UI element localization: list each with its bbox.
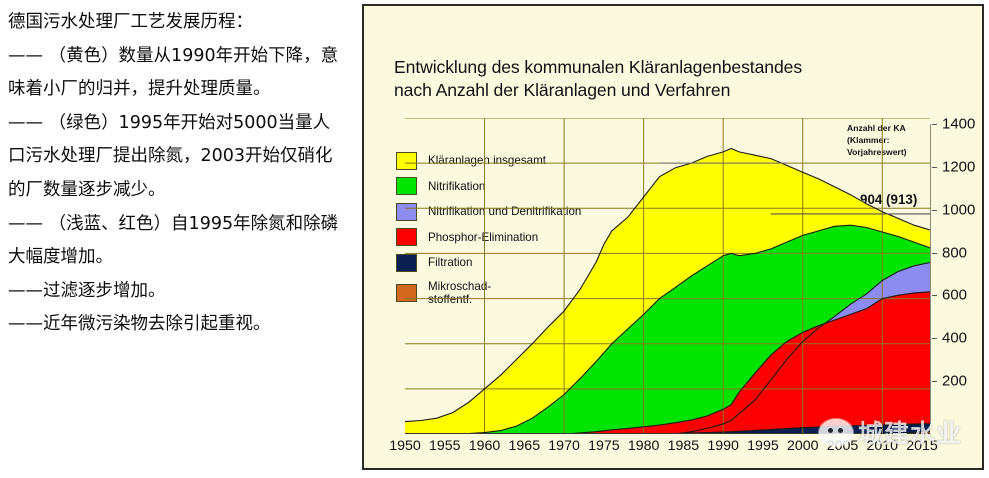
notes-text: 德国污水处理厂工艺发展历程： —— （黄色）数量从1990年开始下降，意味着小厂… bbox=[8, 6, 346, 342]
x-tick-label: 2005 bbox=[827, 438, 859, 454]
y-tick-label: 1000 bbox=[942, 201, 975, 218]
x-tick-label: 2010 bbox=[866, 438, 898, 454]
y-tick bbox=[932, 124, 937, 125]
y-axis-line bbox=[930, 124, 931, 424]
notes-panel: 德国污水处理厂工艺发展历程： —— （黄色）数量从1990年开始下降，意味着小厂… bbox=[0, 0, 352, 478]
y-tick-label: 1400 bbox=[942, 116, 975, 133]
y-axis: 200400600800100012001400 bbox=[930, 118, 984, 438]
x-tick-label: 1975 bbox=[588, 438, 620, 454]
chart-panel: Entwicklung des kommunalen Kläranlagenbe… bbox=[362, 4, 984, 470]
x-tick-label: 1950 bbox=[389, 438, 421, 454]
x-tick-label: 1990 bbox=[707, 438, 739, 454]
y-tick bbox=[932, 381, 937, 382]
x-tick-label: 2015 bbox=[906, 438, 938, 454]
chart-title: Entwicklung des kommunalen Kläranlagenbe… bbox=[394, 56, 802, 102]
y-tick-label: 200 bbox=[942, 373, 967, 390]
x-tick-label: 1985 bbox=[668, 438, 700, 454]
y-tick-label: 800 bbox=[942, 244, 967, 261]
x-tick-label: 1970 bbox=[548, 438, 580, 454]
y-tick bbox=[932, 210, 937, 211]
plot-area bbox=[405, 118, 930, 434]
x-tick-label: 1995 bbox=[747, 438, 779, 454]
area-chart-svg bbox=[405, 118, 930, 434]
y-tick bbox=[932, 338, 937, 339]
y-tick-label: 1200 bbox=[942, 158, 975, 175]
x-axis: 1950195519601965197019751980198519901995… bbox=[394, 438, 974, 464]
x-tick-label: 1980 bbox=[628, 438, 660, 454]
y-tick-label: 400 bbox=[942, 330, 967, 347]
y-tick bbox=[932, 295, 937, 296]
y-tick-label: 600 bbox=[942, 287, 967, 304]
x-tick-label: 2000 bbox=[787, 438, 819, 454]
y-tick bbox=[932, 253, 937, 254]
x-tick-label: 1955 bbox=[429, 438, 461, 454]
x-tick-label: 1965 bbox=[509, 438, 541, 454]
y-tick bbox=[932, 167, 937, 168]
x-tick-label: 1960 bbox=[469, 438, 501, 454]
